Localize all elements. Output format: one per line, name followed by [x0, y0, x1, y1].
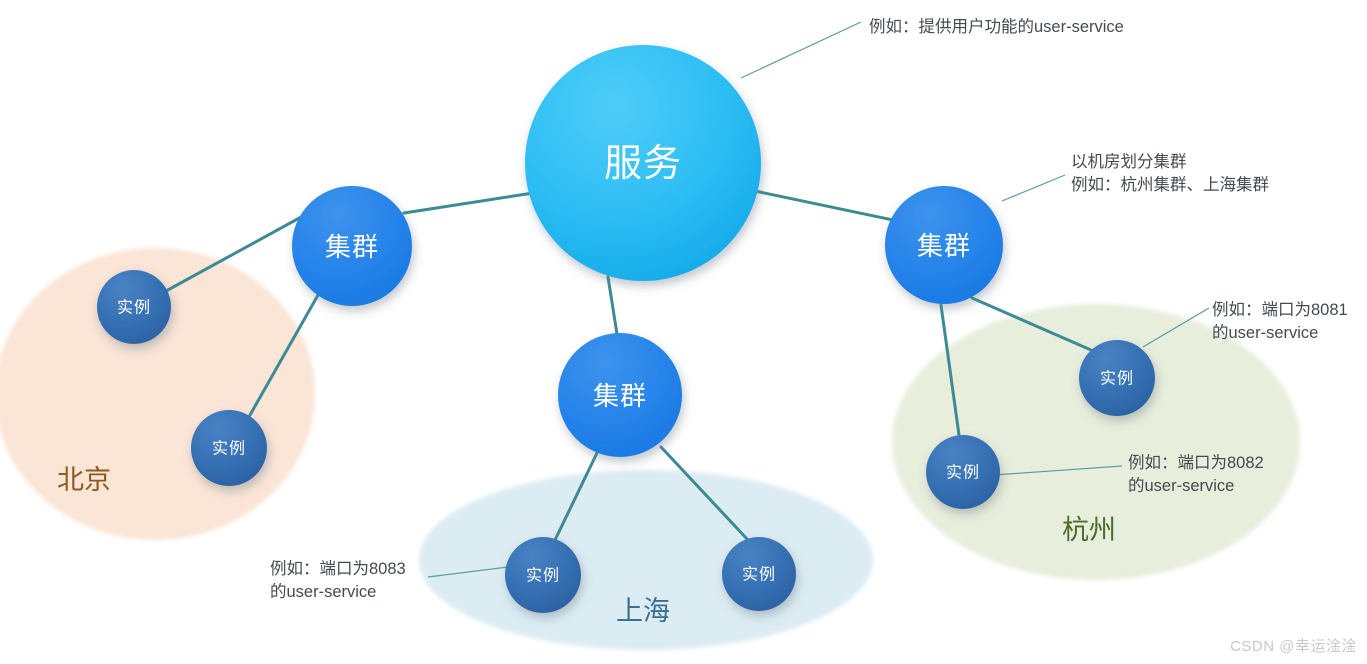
node-instance-shanghai-1[interactable]: 实例 — [505, 537, 581, 613]
node-instance-shanghai-1-label: 实例 — [526, 567, 560, 585]
leader-service — [741, 22, 861, 78]
node-service[interactable]: 服务 — [525, 45, 761, 281]
annotation-instance-8083: 例如：端口为8083的user-service — [270, 558, 406, 605]
leader-cluster — [1002, 175, 1065, 201]
region-shanghai-label: 上海 — [616, 596, 670, 626]
diagram-svg: 服务集群集群集群实例实例实例实例实例实例 北京上海杭州 — [0, 0, 1367, 664]
node-instance-shanghai-2[interactable]: 实例 — [722, 537, 796, 611]
edge-service-cluster-beijing — [404, 193, 533, 213]
annotation-service-line: 例如：提供用户功能的user-service — [869, 16, 1124, 39]
annotation-cluster: 以机房划分集群例如：杭州集群、上海集群 — [1071, 151, 1269, 198]
annotation-instance-8083-line: 例如：端口为8083 — [270, 558, 406, 581]
node-cluster-beijing[interactable]: 集群 — [292, 186, 412, 306]
node-cluster-shanghai[interactable]: 集群 — [558, 333, 682, 457]
edge-service-cluster-hangzhou — [755, 191, 893, 220]
diagram-canvas: 服务集群集群集群实例实例实例实例实例实例 北京上海杭州 例如：提供用户功能的us… — [0, 0, 1367, 664]
annotation-instance-8081-line: 例如：端口为8081 — [1212, 299, 1348, 322]
node-instance-hangzhou-1[interactable]: 实例 — [1079, 340, 1155, 416]
region-beijing-label: 北京 — [57, 465, 111, 495]
edge-service-cluster-shanghai — [608, 277, 617, 334]
annotation-instance-8082-line: 例如：端口为8082 — [1128, 452, 1264, 475]
annotation-instance-8081: 例如：端口为8081的user-service — [1212, 299, 1348, 346]
node-instance-hangzhou-1-label: 实例 — [1100, 370, 1134, 388]
node-cluster-shanghai-label: 集群 — [593, 381, 647, 411]
node-cluster-beijing-label: 集群 — [325, 232, 379, 262]
node-cluster-hangzhou[interactable]: 集群 — [885, 186, 1003, 304]
node-instance-beijing-2[interactable]: 实例 — [191, 410, 267, 486]
annotation-instance-8082: 例如：端口为8082的user-service — [1128, 452, 1264, 499]
node-instance-shanghai-2-label: 实例 — [742, 566, 776, 584]
node-instance-beijing-1-label: 实例 — [117, 299, 151, 317]
annotation-instance-8083-line: 的user-service — [270, 581, 406, 604]
node-instance-hangzhou-2-label: 实例 — [946, 464, 980, 482]
node-service-label: 服务 — [604, 143, 682, 185]
node-instance-beijing-2-label: 实例 — [212, 440, 246, 458]
annotation-instance-8082-line: 的user-service — [1128, 475, 1264, 498]
node-cluster-hangzhou-label: 集群 — [917, 231, 971, 261]
region-hangzhou-label: 杭州 — [1062, 515, 1116, 545]
node-instance-beijing-1[interactable]: 实例 — [97, 270, 171, 344]
annotation-cluster-line: 例如：杭州集群、上海集群 — [1071, 174, 1269, 197]
annotation-instance-8081-line: 的user-service — [1212, 322, 1348, 345]
annotation-service: 例如：提供用户功能的user-service — [869, 16, 1124, 39]
annotation-cluster-line: 以机房划分集群 — [1071, 151, 1269, 174]
watermark: CSDN @幸运淦淦 — [1230, 635, 1357, 656]
node-instance-hangzhou-2[interactable]: 实例 — [926, 435, 1000, 509]
